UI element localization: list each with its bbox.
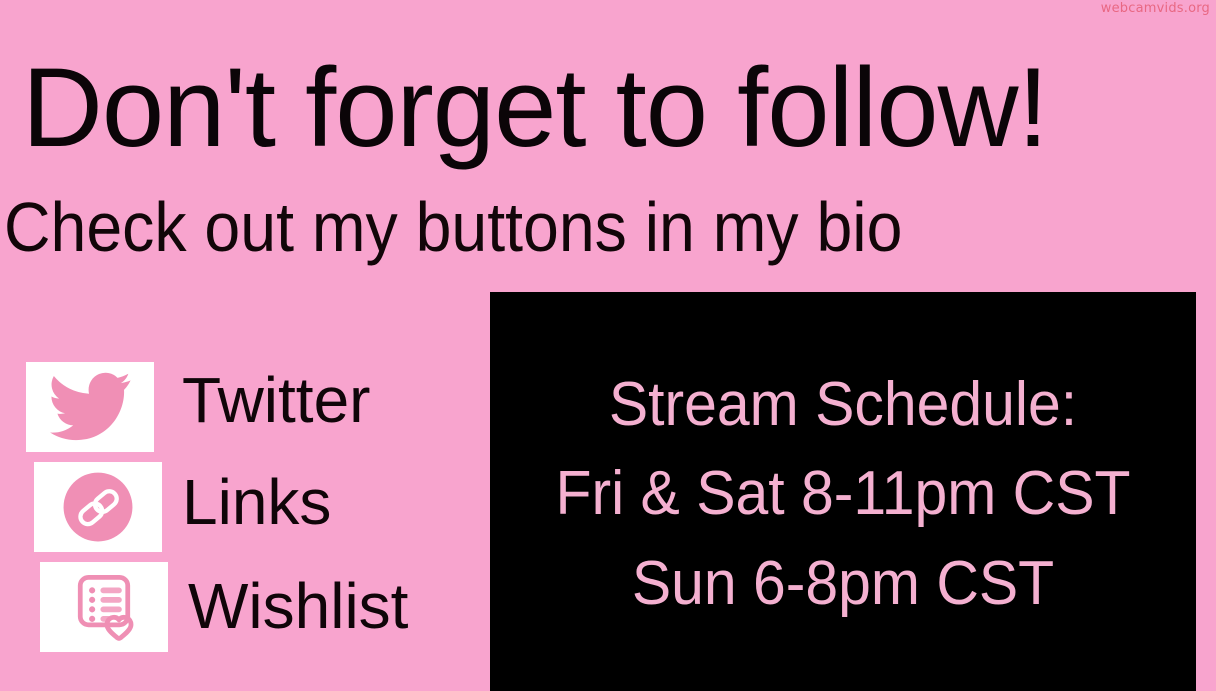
twitter-bird-icon: [48, 372, 132, 442]
watermark-label: webcamvids.org: [1101, 1, 1210, 16]
page-title: Don't forget to follow!: [22, 52, 1048, 164]
schedule-text-block: Stream Schedule: Fri & Sat 8-11pm CST Su…: [490, 360, 1196, 628]
schedule-heading: Stream Schedule:: [508, 360, 1179, 449]
links-tile[interactable]: [34, 462, 162, 552]
list-item[interactable]: Wishlist: [0, 558, 470, 656]
list-item[interactable]: Twitter: [0, 362, 470, 460]
list-item[interactable]: Links: [0, 460, 470, 558]
chain-link-icon: [60, 469, 136, 545]
stream-overlay-screen: webcamvids.org Don't forget to follow! C…: [0, 0, 1216, 691]
page-subtitle: Check out my buttons in my bio: [4, 192, 902, 262]
link-label-wishlist: Wishlist: [188, 574, 408, 638]
schedule-line-1: Fri & Sat 8-11pm CST: [508, 449, 1179, 538]
schedule-line-2: Sun 6-8pm CST: [508, 539, 1179, 628]
social-link-list: Twitter Links: [0, 362, 470, 656]
stream-schedule-panel: Stream Schedule: Fri & Sat 8-11pm CST Su…: [490, 292, 1196, 691]
link-label-links: Links: [182, 470, 331, 534]
twitter-tile[interactable]: [26, 362, 154, 452]
link-label-twitter: Twitter: [182, 368, 370, 432]
wishlist-clipboard-heart-icon: [66, 569, 142, 645]
wishlist-tile[interactable]: [40, 562, 168, 652]
